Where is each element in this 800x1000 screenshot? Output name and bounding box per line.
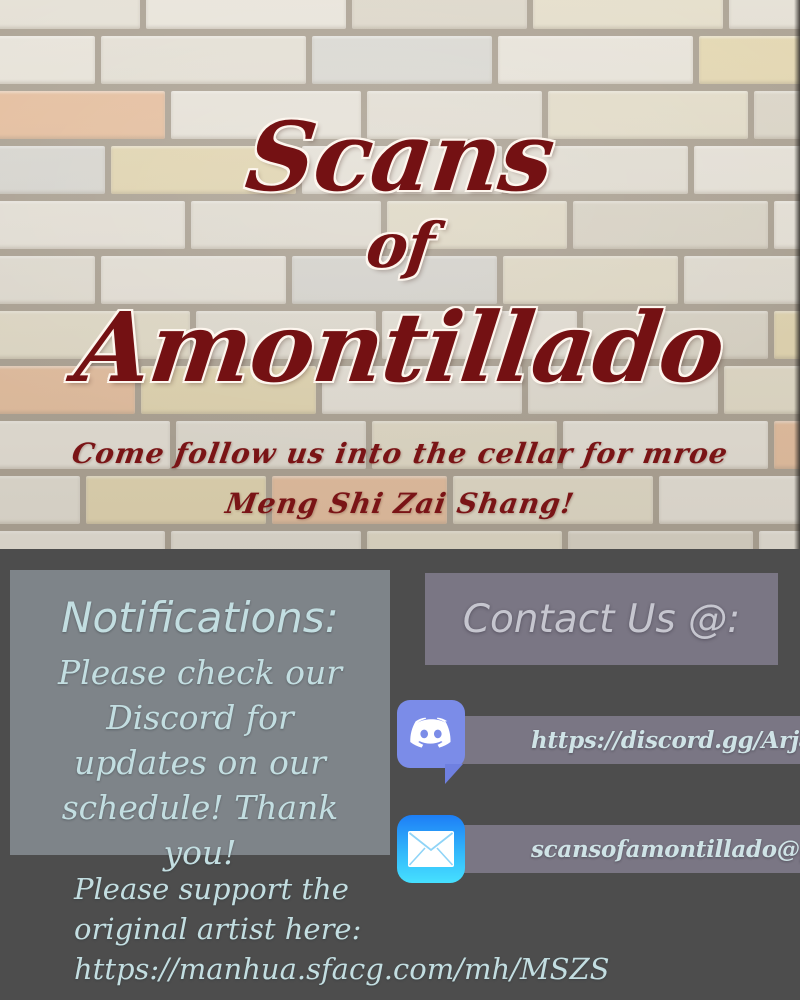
contact-heading: Contact Us @:	[425, 573, 778, 665]
email-address-label[interactable]: scansofamontillado@gmail.com	[531, 825, 800, 873]
contact-heading-panel: Contact Us @:	[425, 573, 778, 665]
title-line-of: of	[0, 215, 800, 277]
contact-link-email[interactable]: scansofamontillado@gmail.com	[445, 825, 800, 873]
title-block: Scans of Amontillado Come follow us into…	[0, 0, 800, 549]
title-line-scans: Scans	[0, 110, 800, 205]
tagline-line-1: Come follow us into the cellar for mroe	[0, 438, 800, 470]
info-section: Notifications: Please check our Discord …	[0, 549, 800, 1000]
credits-page: Scans of Amontillado Come follow us into…	[0, 0, 800, 1000]
notifications-heading: Notifications:	[10, 570, 390, 640]
title-line-amontillado: Amontillado	[0, 300, 800, 396]
tagline-line-2: Meng Shi Zai Shang!	[0, 488, 800, 520]
support-artist-text: Please support the original artist here:…	[74, 869, 654, 989]
notifications-panel: Notifications: Please check our Discord …	[10, 570, 390, 855]
mail-icon[interactable]	[397, 815, 465, 883]
discord-link-label[interactable]: https://discord.gg/Arj8xS9	[531, 716, 800, 764]
notifications-body: Please check our Discord for updates on …	[10, 640, 390, 875]
contact-link-discord[interactable]: https://discord.gg/Arj8xS9	[445, 716, 800, 764]
discord-icon[interactable]	[397, 700, 465, 768]
